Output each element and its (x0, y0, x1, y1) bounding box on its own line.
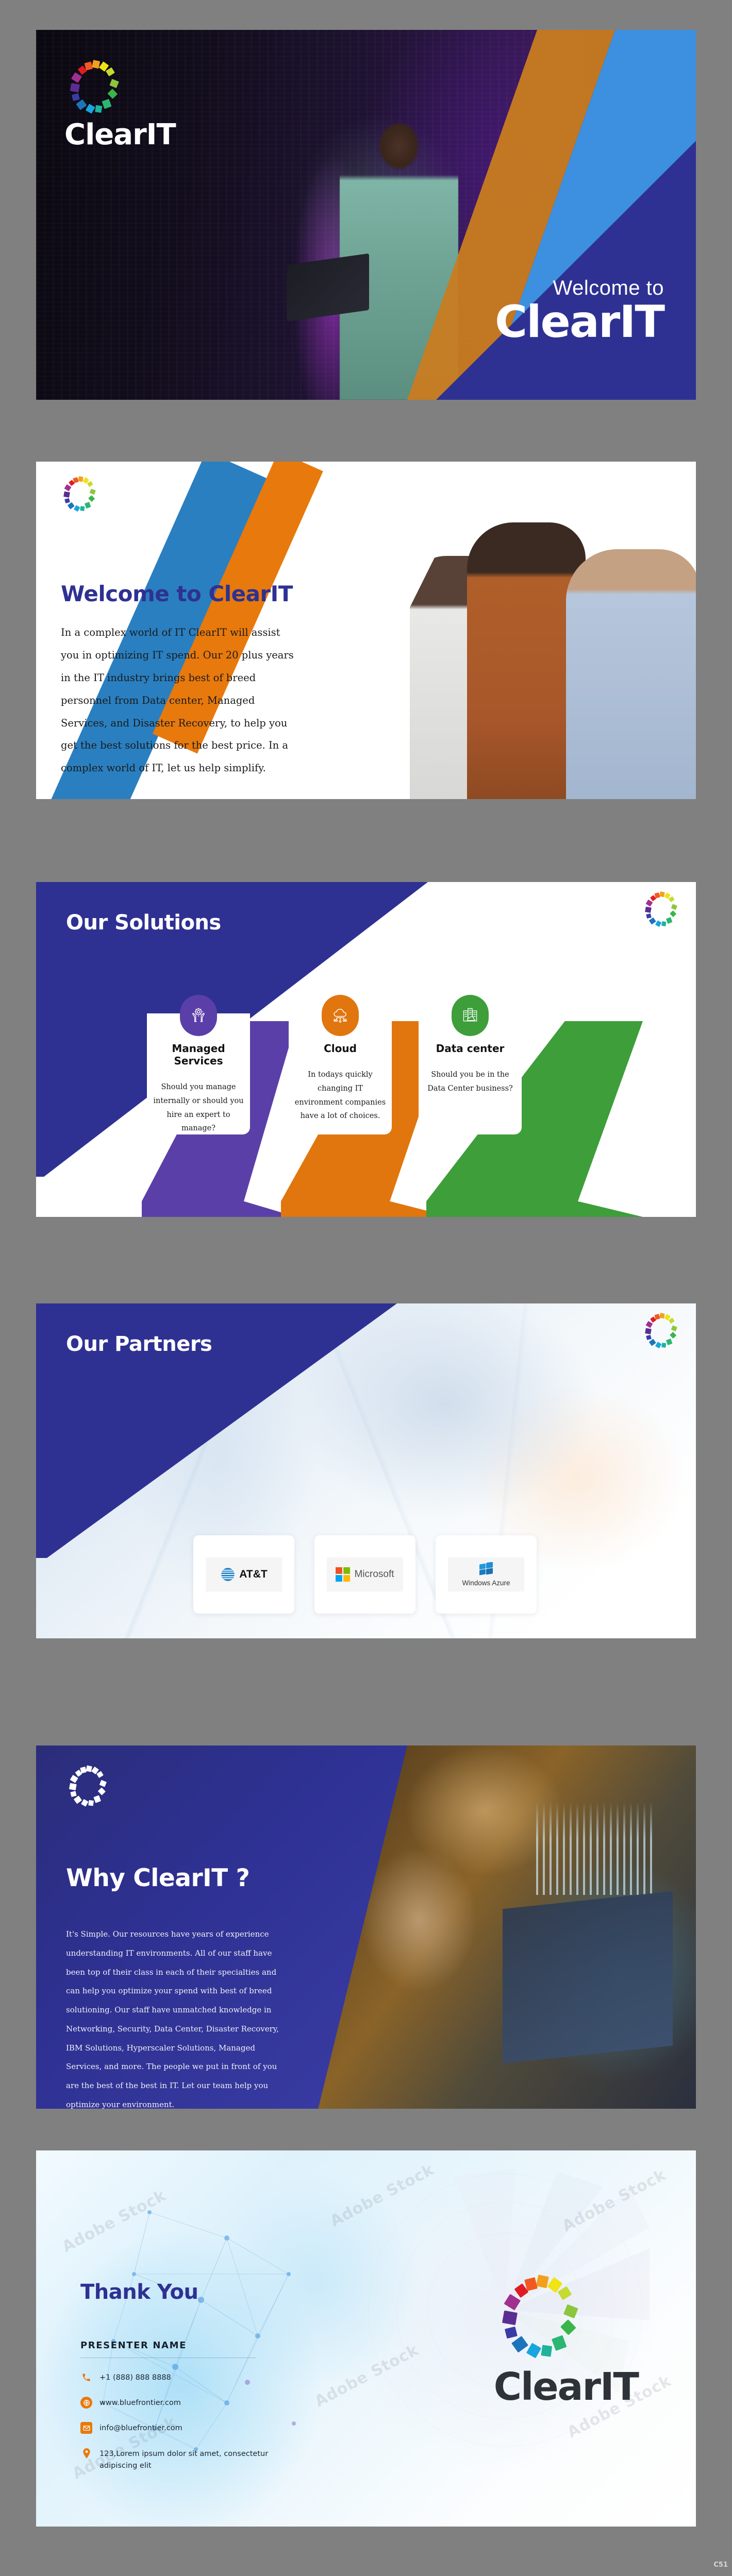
contact-row-phone[interactable]: +1 (888) 888 8888 (80, 2371, 307, 2384)
contact-row-website[interactable]: www.bluefrontier.com (80, 2396, 307, 2409)
clearit-ring-icon (66, 1764, 110, 1808)
partner-name: Microsoft (354, 1569, 394, 1580)
card-text: In todays quickly changing IT environmen… (289, 1068, 392, 1123)
clearit-ring-icon (494, 2272, 588, 2362)
slide-thank-you: Adobe Stock Adobe Stock Adobe Stock Adob… (36, 2150, 696, 2527)
welcome-title: ClearIT (495, 300, 664, 344)
clearit-ring-icon (642, 1312, 680, 1350)
phone-icon (80, 2371, 92, 2383)
slide-title-text: Why ClearIT ? (66, 1864, 249, 1892)
contact-row-address[interactable]: 123,Lorem ipsum dolor sit amet, consecte… (80, 2447, 307, 2472)
slide-body-text: In a complex world of IT ClearIT will as… (61, 621, 298, 779)
contact-value: www.bluefrontier.com (99, 2396, 181, 2409)
brand-logo: ClearIT (494, 2272, 638, 2409)
cloud-network-icon (322, 995, 359, 1036)
att-logo-icon: AT&T (206, 1557, 282, 1591)
card-heading: Data center (419, 1042, 522, 1055)
envelope-icon (80, 2422, 92, 2434)
windows-azure-logo-icon: Windows Azure (448, 1557, 524, 1591)
partner-card-att[interactable]: AT&T (193, 1535, 294, 1614)
brand-logo (61, 475, 99, 513)
slide-our-solutions: Our Solutions (36, 882, 696, 1217)
clearit-ring-icon (61, 475, 99, 513)
slide-why-clearit: Why ClearIT ? It's Simple. Our resources… (36, 1745, 696, 2109)
divider-line (80, 2358, 256, 2358)
slide-title-text: Thank You (80, 2280, 198, 2304)
contact-value: info@bluefrontier.com (99, 2421, 182, 2434)
brand-logo (66, 1764, 110, 1808)
slide-title: ClearIT Welcome to ClearIT (36, 30, 696, 400)
microsoft-logo-icon: Microsoft (327, 1557, 403, 1591)
slide-title-text: Welcome to ClearIT (61, 581, 293, 606)
brand-wordmark: ClearIT (494, 2365, 638, 2409)
location-pin-icon (80, 2448, 92, 2460)
solution-card[interactable]: Managed Services Should you manage inter… (147, 1013, 250, 1134)
contact-value: +1 (888) 888 8888 (99, 2371, 171, 2384)
person-photo-man (566, 549, 696, 799)
partner-card-microsoft[interactable]: Microsoft (314, 1535, 415, 1614)
contact-list: +1 (888) 888 8888 www.bluefrontier.com i… (80, 2371, 307, 2484)
brand-logo (642, 1312, 680, 1350)
windows-flag-icon (478, 1562, 494, 1577)
corner-tag: C51 (713, 2561, 728, 2569)
data-center-building-icon (452, 995, 489, 1036)
globe-icon (80, 2397, 92, 2409)
welcome-block: Welcome to ClearIT (495, 277, 664, 344)
microsoft-squares-icon (336, 1567, 350, 1582)
brand-wordmark: ClearIT (64, 118, 176, 151)
solution-card[interactable]: Data center Should you be in the Data Ce… (419, 1013, 522, 1134)
laptop-photo (287, 253, 369, 321)
solution-card[interactable]: Cloud In todays quickly changing IT envi… (289, 1013, 392, 1134)
brand-logo: ClearIT (64, 58, 176, 151)
slide-body-text: It's Simple. Our resources have years of… (66, 1925, 282, 2109)
data-visualization-overlay (536, 1802, 655, 1895)
card-text: Should you manage internally or should y… (147, 1080, 250, 1136)
partner-name: Windows Azure (462, 1579, 510, 1587)
clearit-ring-icon (64, 58, 125, 116)
att-globe-icon (220, 1567, 236, 1582)
partner-name: AT&T (239, 1568, 267, 1581)
slide-our-partners: Our Partners (36, 1303, 696, 1638)
card-text: Should you be in the Data Center busines… (419, 1068, 522, 1096)
monitor-screens (503, 1891, 673, 2064)
presenter-name-label: PRESENTER NAME (80, 2340, 187, 2351)
card-heading: Managed Services (147, 1042, 250, 1067)
partner-card-windows-azure[interactable]: Windows Azure (436, 1535, 537, 1614)
slide-deck: ClearIT Welcome to ClearIT (0, 0, 732, 2576)
hands-holding-gear-icon (180, 995, 217, 1036)
contact-value: 123,Lorem ipsum dolor sit amet, consecte… (99, 2447, 285, 2472)
team-photo (314, 462, 696, 799)
card-heading: Cloud (289, 1042, 392, 1055)
slide-title-text: Our Partners (66, 1332, 212, 1356)
slide-welcome: Welcome to ClearIT In a complex world of… (36, 462, 696, 799)
contact-row-email[interactable]: info@bluefrontier.com (80, 2421, 307, 2434)
